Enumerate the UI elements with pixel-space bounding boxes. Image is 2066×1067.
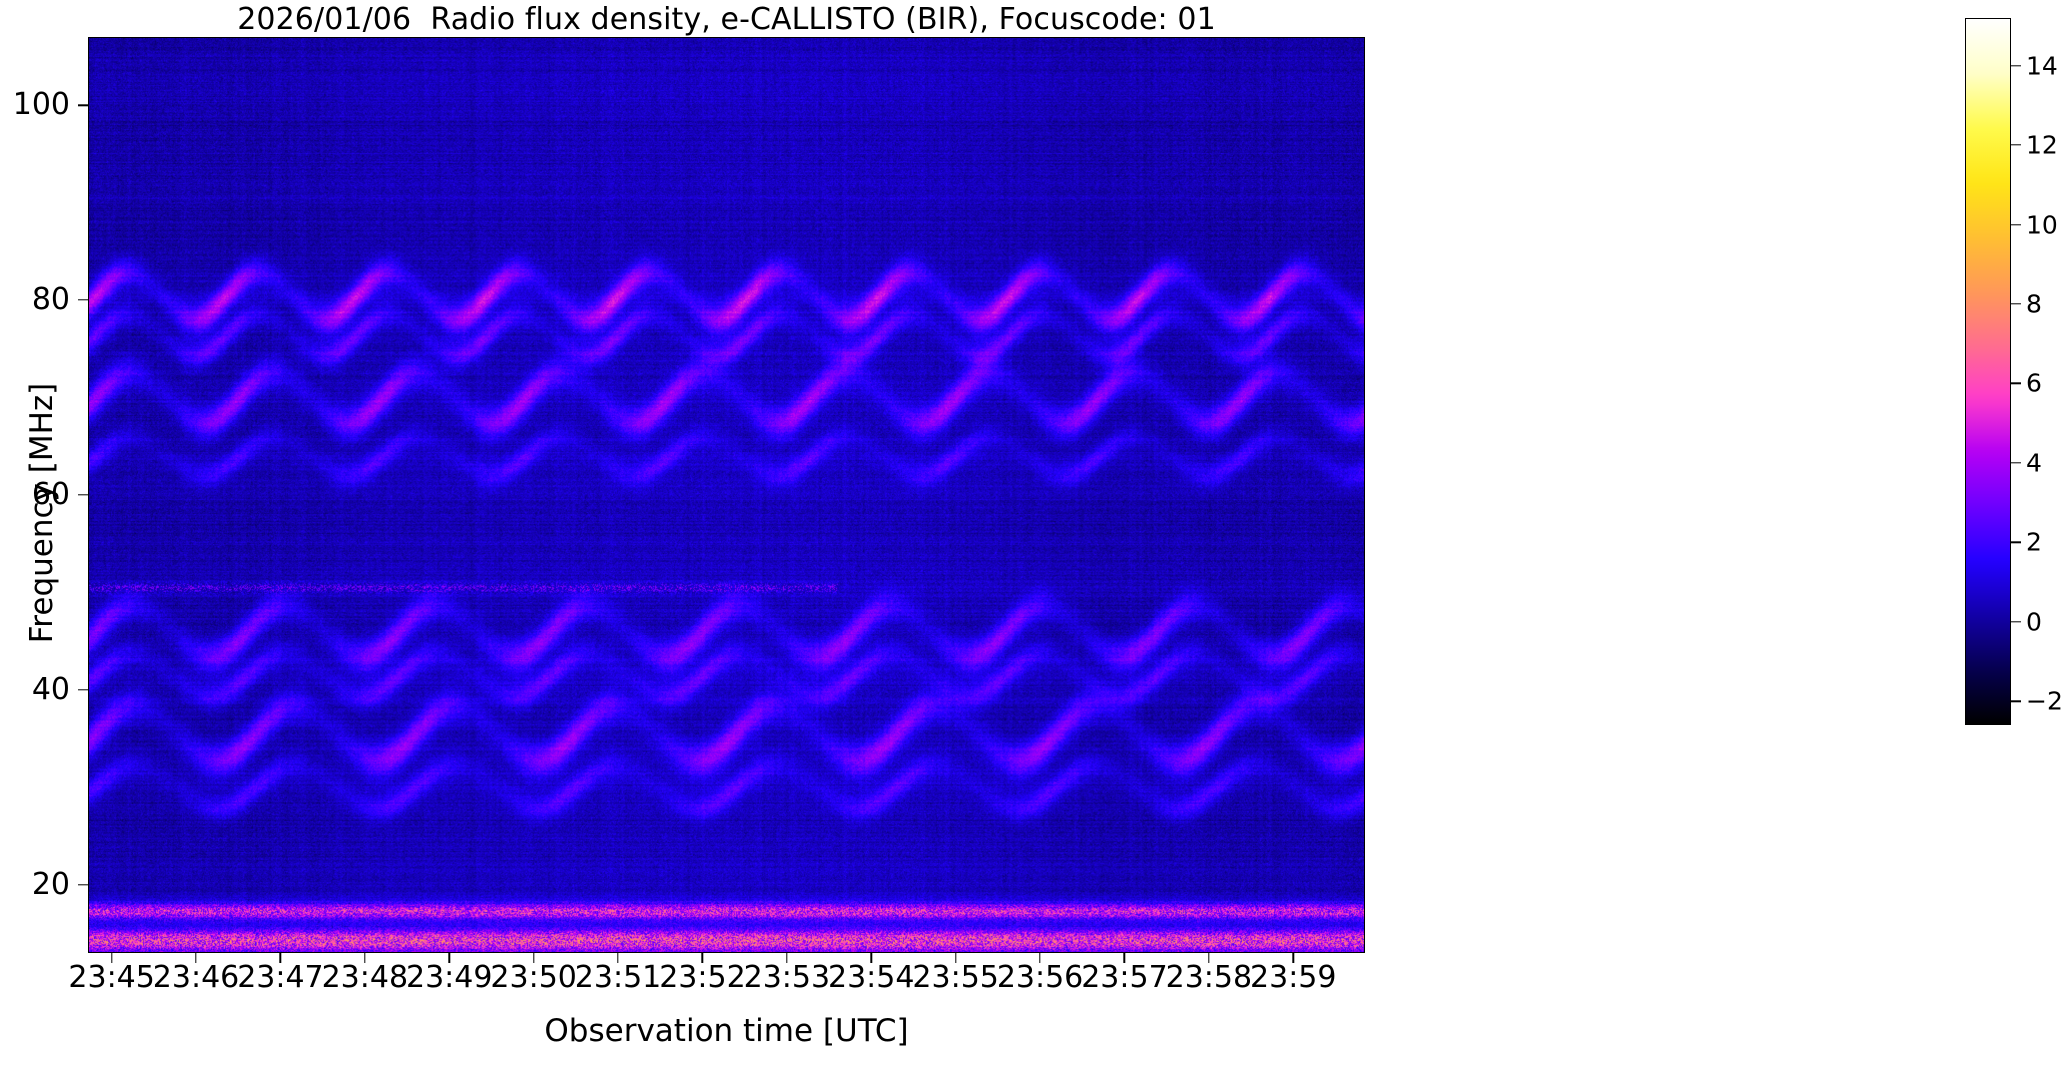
colorbar-tick-label: 6 [2026,371,2042,396]
colorbar-tick-label: 10 [2026,212,2058,237]
x-tick-label: 23:49 [406,962,492,994]
colorbar-tick-label: 8 [2026,291,2042,316]
x-tick-label: 23:48 [322,962,408,994]
x-tick-label: 23:59 [1250,962,1336,994]
x-tick-label: 23:58 [1166,962,1252,994]
x-tick-label: 23:50 [490,962,576,994]
x-tick-label: 23:45 [68,962,154,994]
colorbar-tick-label: −2 [2026,689,2063,714]
y-tick-mark [78,884,88,885]
colorbar-gradient [1966,19,2010,724]
spectrogram-axes[interactable] [88,37,1365,953]
x-tick-label: 23:47 [237,962,323,994]
spectrogram-raster [89,38,1364,952]
y-tick-mark [78,299,88,300]
x-tick-label: 23:52 [659,962,745,994]
y-axis-label: Frequency [MHz] [24,303,60,723]
colorbar-tick-mark [2011,144,2021,145]
spectrogram-image [89,38,1364,952]
colorbar-tick-label: 2 [2026,530,2042,555]
figure-canvas: 2026/01/06 Radio flux density, e-CALLIST… [0,0,2066,1067]
y-tick-label: 20 [0,870,70,900]
x-tick-label: 23:56 [997,962,1083,994]
colorbar-tick-label: 14 [2026,53,2058,78]
colorbar-tick-mark [2011,303,2021,304]
colorbar-tick-mark [2011,542,2021,543]
x-axis-label: Observation time [UTC] [88,1013,1365,1049]
y-tick-mark [78,689,88,690]
x-tick-label: 23:54 [828,962,914,994]
colorbar-tick-label: 0 [2026,609,2042,634]
colorbar-tick-mark [2011,383,2021,384]
y-tick-mark [78,494,88,495]
x-tick-label: 23:57 [1081,962,1167,994]
x-tick-label: 23:46 [153,962,239,994]
colorbar-tick-mark [2011,621,2021,622]
colorbar-tick-mark [2011,462,2021,463]
colorbar-tick-label: 12 [2026,133,2058,158]
colorbar-tick-mark [2011,700,2021,701]
figure-title: 2026/01/06 Radio flux density, e-CALLIST… [0,3,1453,37]
colorbar[interactable] [1965,18,2011,725]
colorbar-tick-label: 4 [2026,450,2042,475]
colorbar-tick-mark [2011,224,2021,225]
y-tick-label: 100 [0,90,70,120]
colorbar-tick-mark [2011,65,2021,66]
x-tick-label: 23:53 [744,962,830,994]
x-tick-label: 23:51 [575,962,661,994]
x-tick-label: 23:55 [912,962,998,994]
y-tick-mark [78,105,88,106]
